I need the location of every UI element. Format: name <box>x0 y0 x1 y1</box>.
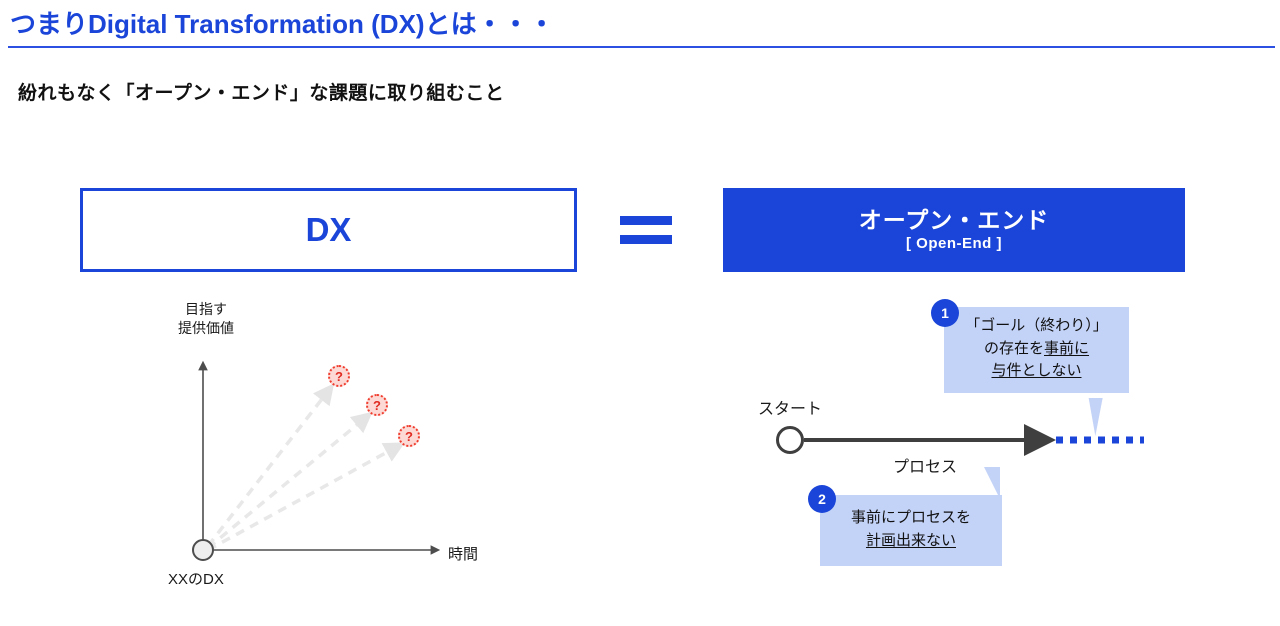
y-axis-label-line2: 提供価値 <box>178 319 234 338</box>
start-label: スタート <box>758 395 822 419</box>
callout-2-badge: 2 <box>808 485 836 513</box>
dx-box-label: DX <box>83 191 574 269</box>
origin-marker <box>192 539 214 561</box>
page-subtitle: 紛れもなく「オープン・エンド」な課題に取り組むこと <box>18 78 504 105</box>
open-end-process-diagram: スタート プロセス 「ゴール（終わり）」 の存在を事前に 与件としない 1 事前… <box>740 295 1200 605</box>
question-marker: ? <box>328 365 350 387</box>
open-end-title: オープン・エンド <box>859 208 1050 233</box>
callout-1-line3-emphasis: 与件としない <box>950 360 1123 383</box>
callout-2-line1: 事前にプロセスを <box>826 507 996 530</box>
equals-bar-top <box>620 216 672 225</box>
page-title: つまりDigital Transformation (DX)とは・・・ <box>10 4 555 41</box>
callout-1: 「ゴール（終わり）」 の存在を事前に 与件としない <box>944 307 1129 393</box>
origin-label: XXのDX <box>168 568 224 589</box>
callout-2: 事前にプロセスを 計画出来ない <box>820 495 1002 566</box>
callout-1-line2-plain: の存在を <box>984 340 1044 357</box>
equals-bar-bottom <box>620 235 672 244</box>
y-axis-label: 目指す 提供価値 <box>178 300 234 338</box>
callout-1-line2: の存在を事前に <box>950 338 1123 361</box>
question-marker: ? <box>398 425 420 447</box>
process-label: プロセス <box>893 453 957 477</box>
trajectory-arrow-3 <box>208 444 402 550</box>
callout-1-line1: 「ゴール（終わり）」 <box>950 315 1123 338</box>
x-axis-label: 時間 <box>448 543 478 564</box>
trajectory-arrow-1 <box>208 386 332 546</box>
callout-2-line2-emphasis: 計画出来ない <box>826 530 996 553</box>
trajectory-arrow-2 <box>208 414 370 548</box>
equals-icon <box>620 216 672 246</box>
open-end-box: オープン・エンド [ Open-End ] <box>723 188 1185 272</box>
start-marker <box>776 426 804 454</box>
callout-1-line2-emphasis: 事前に <box>1044 340 1089 357</box>
title-divider <box>8 46 1275 48</box>
y-axis-label-line1: 目指す <box>178 300 234 319</box>
question-marker: ? <box>366 394 388 416</box>
open-end-subtitle: [ Open-End ] <box>906 235 1002 252</box>
callout-2-tail <box>968 467 1000 499</box>
value-over-time-chart: 目指す 提供価値 時間 XXのDX ? ? ? <box>130 290 530 610</box>
callout-1-badge: 1 <box>931 299 959 327</box>
dx-box: DX <box>80 188 577 272</box>
